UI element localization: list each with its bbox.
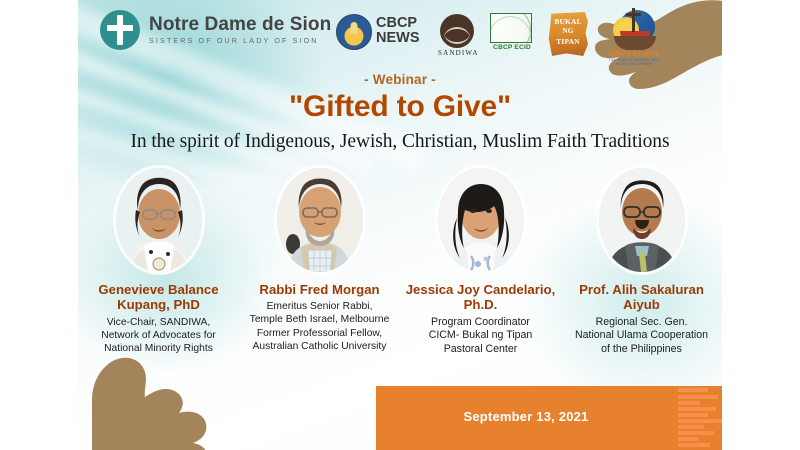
speaker-list: Genevieve Balance Kupang, PhD Vice-Chair… [78, 168, 722, 356]
date-banner-texture [678, 386, 722, 450]
brand-name: Notre Dame de Sion [149, 15, 331, 35]
speaker-role-line: Program Coordinator [429, 316, 533, 330]
speaker-role-line: Former Professorial Fellow, [250, 327, 390, 340]
cbcp-ecid-label: CBCP ECID [490, 44, 534, 51]
cbcp-news-line1: CBCP [376, 16, 420, 31]
gifted-to-give-emblem-icon [611, 10, 657, 50]
speaker-role: Regional Sec. Gen. National Ulama Cooper… [575, 316, 708, 357]
cbcp-news-logo: CBCP NEWS [376, 16, 420, 46]
speaker-role-line: National Ulama Cooperation [575, 329, 708, 343]
speaker-role-line: Temple Beth Israel, Melbourne [250, 313, 390, 326]
speaker-role-line: of the Philippines [575, 343, 708, 357]
cbcp-ecid-logo: CBCP ECID [490, 13, 534, 51]
event-date: September 13, 2021 [376, 409, 676, 424]
webinar-poster: Notre Dame de Sion SISTERS OF OUR LADY O… [78, 0, 722, 450]
speaker-role-line: Regional Sec. Gen. [575, 316, 708, 330]
speaker-role: Program Coordinator CICM- Bukal ng Tipan… [429, 316, 533, 357]
avatar [599, 168, 685, 272]
speaker-name: Jessica Joy Candelario, Ph.D. [400, 282, 561, 313]
page-subtitle: In the spirit of Indigenous, Jewish, Chr… [78, 131, 722, 153]
speaker-name: Genevieve Balance Kupang, PhD [78, 282, 239, 313]
speaker-name: Prof. Alih Sakaluran Aiyub [561, 282, 722, 313]
partner-logo-bar: Notre Dame de Sion SISTERS OF OUR LADY O… [78, 6, 722, 64]
brand-tagline: SISTERS OF OUR LADY OF SION [149, 36, 331, 45]
speaker-role: Emeritus Senior Rabbi, Temple Beth Israe… [250, 300, 390, 353]
cbcp-news-line2: NEWS [376, 31, 420, 46]
avatar [116, 168, 202, 272]
speaker-role-line: Pastoral Center [429, 343, 533, 357]
speaker-role-line: CICM- Bukal ng Tipan [429, 329, 533, 343]
eyebrow-label: - Webinar - [78, 72, 722, 87]
bukal-ng-tipan-logo: BUKAL NG TIPAN [548, 12, 588, 56]
gifted-to-give-label: gifted to give [606, 49, 662, 58]
avatar [277, 168, 363, 272]
cbcp-ecid-emblem-icon [490, 13, 532, 43]
avatar [438, 168, 524, 272]
sandiwa-logo: SANDIWA [438, 14, 476, 57]
speaker-name: Rabbi Fred Morgan [259, 282, 379, 297]
speaker-role: Vice-Chair, SANDIWA, Network of Advocate… [101, 316, 215, 356]
notre-dame-de-sion-logo: Notre Dame de Sion SISTERS OF OUR LADY O… [100, 10, 331, 50]
gifted-to-give-sublabel: THE YEAR OF MISSION 2021 IN THE PHILIPPI… [606, 58, 662, 66]
speaker-role-line: Network of Advocates for [101, 329, 215, 342]
speaker-card: Prof. Alih Sakaluran Aiyub Regional Sec.… [561, 168, 722, 356]
bukal-line1: BUKAL [548, 17, 588, 26]
speaker-role-line: Emeritus Senior Rabbi, [250, 300, 390, 313]
speaker-role-line: National Minority Rights [101, 342, 215, 355]
sandiwa-label: SANDIWA [438, 49, 476, 57]
speaker-role-line: Australian Catholic University [250, 340, 390, 353]
cross-icon [100, 10, 140, 50]
cbcp-news-emblem-icon [336, 14, 372, 50]
speaker-card: Jessica Joy Candelario, Ph.D. Program Co… [400, 168, 561, 356]
speaker-card: Rabbi Fred Morgan Emeritus Senior Rabbi,… [239, 168, 400, 356]
gifted-to-give-logo: gifted to give THE YEAR OF MISSION 2021 … [606, 10, 662, 66]
page-title: "Gifted to Give" [78, 90, 722, 124]
bukal-line2: NG [548, 26, 588, 35]
speaker-card: Genevieve Balance Kupang, PhD Vice-Chair… [78, 168, 239, 356]
speaker-role-line: Vice-Chair, SANDIWA, [101, 316, 215, 329]
sandiwa-emblem-icon [440, 14, 474, 48]
bukal-line3: TIPAN [548, 37, 588, 46]
